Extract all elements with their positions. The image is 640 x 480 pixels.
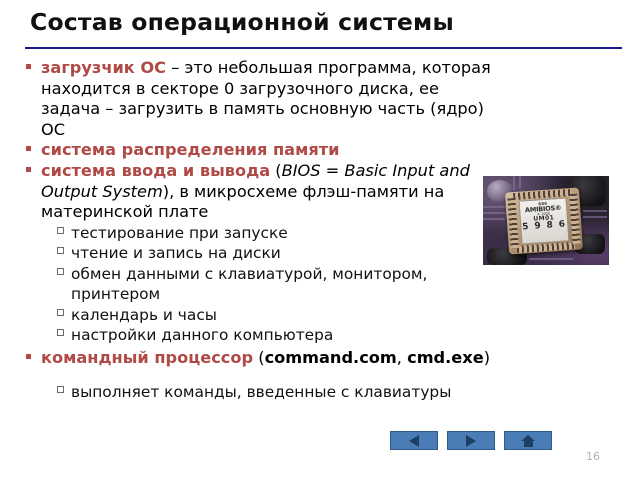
sub-bullet-marker-hollow-square-icon: [57, 329, 64, 336]
bullet-paren-close: ): [484, 348, 490, 367]
sub-bullet-text: тестирование при запуске: [71, 224, 288, 242]
bullet-marker-square-icon: [26, 146, 31, 151]
list-item: выполняет команды, введенные с клавиатур…: [24, 382, 494, 403]
pcb-trace: [583, 210, 607, 212]
sub-bullet-text: календарь и часы: [71, 306, 217, 324]
sub-bullet-text: выполняет команды, введенные с клавиатур…: [71, 383, 451, 401]
sub-bullet-text: чтение и запись на диски: [71, 244, 281, 262]
slide-canvas: Состав операционной системы загрузчик ОС…: [0, 0, 640, 480]
chip-label-line5: 5 9 8 6: [521, 221, 568, 233]
sub-bullet-marker-hollow-square-icon: [57, 268, 64, 275]
list-item: обмен данными с клавиатурой, монитором, …: [24, 264, 494, 305]
bullet-marker-square-icon: [26, 354, 31, 359]
bios-chip-photo: 686 AMIBIOS® © 2000 UM01 5 9 8 6: [483, 176, 609, 265]
bullet-text: система распределения памяти: [41, 140, 494, 161]
sub-bullet-marker-hollow-square-icon: [57, 227, 64, 234]
list-item: система распределения памяти: [24, 140, 494, 161]
command-com-text: command.com: [265, 348, 397, 367]
cmd-exe-text: cmd.exe: [407, 348, 484, 367]
home-button[interactable]: [504, 431, 552, 450]
chip-pins-left: [507, 198, 518, 248]
bullet-keyword: загрузчик ОС: [41, 58, 166, 77]
pcb-trace: [519, 176, 521, 188]
triangle-left-icon: [409, 435, 419, 447]
page-title: Состав операционной системы: [30, 8, 620, 36]
bios-chip-socket: 686 AMIBIOS® © 2000 UM01 5 9 8 6: [505, 187, 583, 254]
bullet-text: система ввода и вывода (BIOS = Basic Inp…: [41, 161, 494, 223]
sub-bullet-text: настройки данного компьютера: [71, 326, 333, 344]
bullet-text: загрузчик ОС – это небольшая программа, …: [41, 58, 494, 140]
triangle-right-icon: [466, 435, 476, 447]
list-item: настройки данного компьютера: [24, 325, 494, 346]
bullet-paren-open: (: [270, 161, 281, 180]
bullet-marker-square-icon: [26, 167, 31, 172]
pcb-trace: [483, 212, 509, 214]
slide-number: 16: [586, 450, 600, 463]
bullet-keyword: система распределения памяти: [41, 140, 339, 159]
bullet-text: командный процессор (command.com, cmd.ex…: [41, 348, 494, 369]
pcb-trace: [483, 218, 505, 220]
title-divider: [25, 47, 622, 49]
list-item: командный процессор (command.com, cmd.ex…: [24, 348, 494, 369]
list-item: система ввода и вывода (BIOS = Basic Inp…: [24, 161, 494, 223]
pcb-trace: [529, 258, 573, 260]
bullet-marker-square-icon: [26, 64, 31, 69]
chip-label: 686 AMIBIOS® © 2000 UM01 5 9 8 6: [519, 197, 570, 244]
sub-bullet-marker-hollow-square-icon: [57, 386, 64, 393]
sub-bullet-text: обмен данными с клавиатурой, монитором, …: [71, 265, 427, 304]
forward-button[interactable]: [447, 431, 495, 450]
list-item: тестирование при запуске: [24, 223, 494, 244]
chip-pins-right: [569, 194, 580, 244]
bullet-keyword: система ввода и вывода: [41, 161, 270, 180]
list-item: календарь и часы: [24, 305, 494, 326]
pcb-trace: [583, 216, 607, 218]
bullet-paren-open: (: [253, 348, 264, 367]
home-icon: [521, 435, 536, 447]
list-item: загрузчик ОС – это небольшая программа, …: [24, 58, 494, 140]
back-button[interactable]: [390, 431, 438, 450]
navigation-bar: [390, 431, 555, 450]
sub-bullet-marker-hollow-square-icon: [57, 309, 64, 316]
list-item: чтение и запись на диски: [24, 243, 494, 264]
slide-body: загрузчик ОС – это небольшая программа, …: [24, 58, 494, 403]
bullet-keyword: командный процессор: [41, 348, 253, 367]
pcb-trace: [513, 176, 515, 190]
sub-bullet-marker-hollow-square-icon: [57, 247, 64, 254]
bullet-separator: ,: [397, 348, 407, 367]
